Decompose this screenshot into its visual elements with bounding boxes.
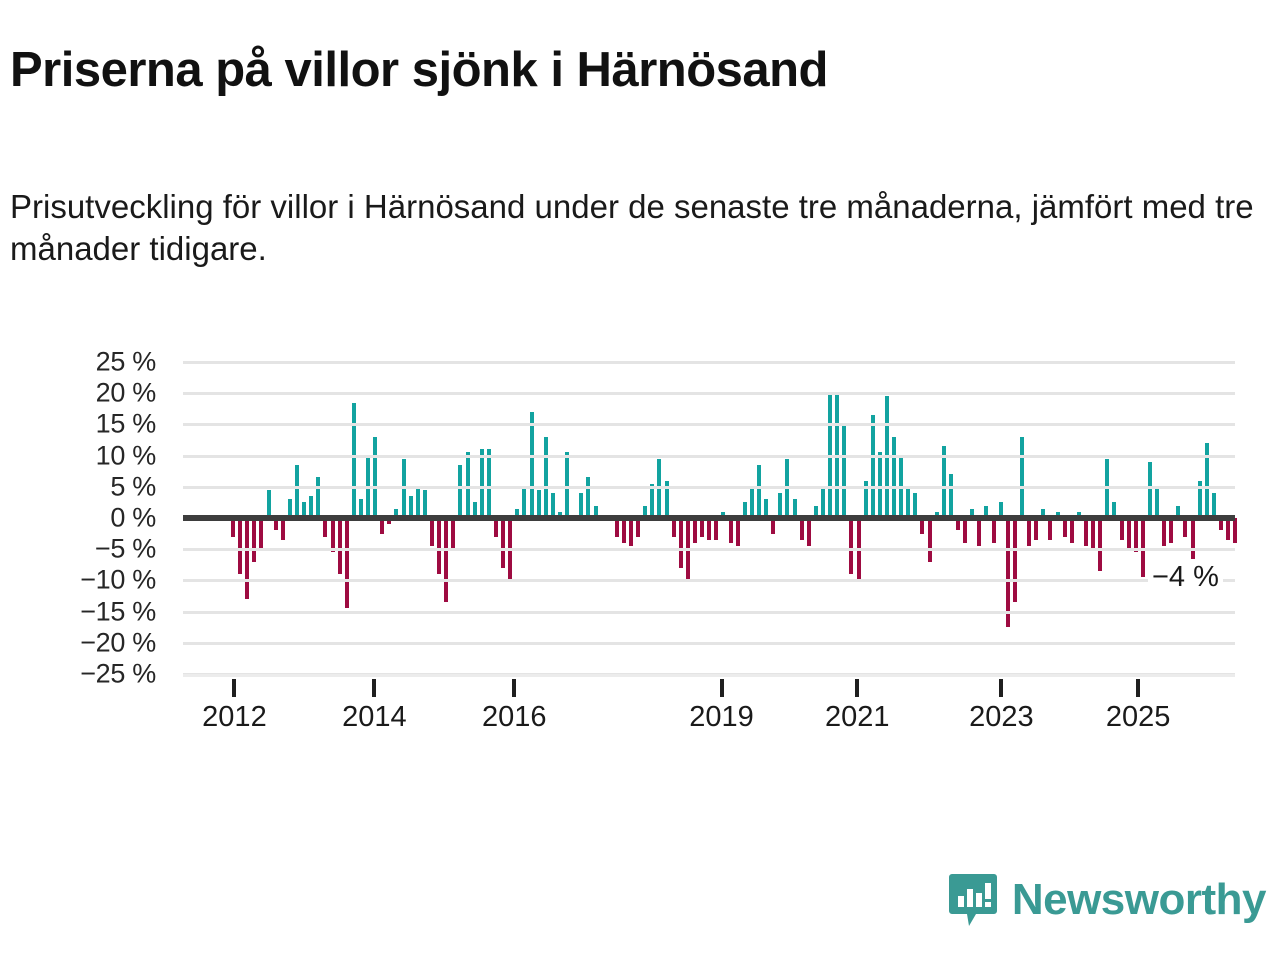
chart-bar xyxy=(650,484,654,518)
chart-bar xyxy=(1134,518,1138,552)
gridline xyxy=(183,548,1235,551)
gridline xyxy=(183,611,1235,614)
chart-bar xyxy=(444,518,448,602)
chart-bar xyxy=(928,518,932,562)
chart-bar xyxy=(267,490,271,518)
chart-bar xyxy=(281,518,285,540)
chart-bar xyxy=(1013,518,1017,602)
chart-bar xyxy=(1034,518,1038,540)
chart-bar xyxy=(992,518,996,543)
chart-bar xyxy=(693,518,697,543)
y-axis-tick-label: 15 % xyxy=(96,409,156,440)
chart-bar xyxy=(1191,518,1195,559)
chart-bar xyxy=(1048,518,1052,540)
page-subtitle: Prisutveckling för villor i Härnösand un… xyxy=(10,186,1260,269)
y-axis-tick-label: −10 % xyxy=(80,565,156,596)
chart-bar xyxy=(416,487,420,518)
gridline xyxy=(183,579,1235,582)
chart-bar xyxy=(480,449,484,518)
chart-bar xyxy=(714,518,718,540)
chart-bar xyxy=(1098,518,1102,571)
y-axis-tick-label: 0 % xyxy=(110,503,156,534)
x-axis-tick-label: 2012 xyxy=(202,701,267,734)
chart-bar xyxy=(736,518,740,546)
x-axis-tick-label: 2019 xyxy=(689,701,754,734)
x-axis-tick-label: 2025 xyxy=(1106,701,1171,734)
chart-bar xyxy=(259,518,263,549)
y-axis-tick-label: −15 % xyxy=(80,596,156,627)
chart-bar xyxy=(821,487,825,518)
chart-bar xyxy=(729,518,733,543)
chart-bar xyxy=(1091,518,1095,549)
chart-bar xyxy=(1148,462,1152,518)
chart-bar xyxy=(1027,518,1031,546)
x-axis-tick xyxy=(999,679,1003,697)
chart-bar xyxy=(458,465,462,518)
chart-bar xyxy=(1070,518,1074,543)
chart-bar xyxy=(522,487,526,518)
chart-bar xyxy=(238,518,242,574)
chart-bar xyxy=(977,518,981,546)
chart-bar xyxy=(252,518,256,562)
chart-bar xyxy=(530,412,534,518)
chart-bar xyxy=(1155,487,1159,518)
gridline xyxy=(183,361,1235,364)
x-axis-tick xyxy=(372,679,376,697)
y-axis-tick-label: −25 % xyxy=(80,659,156,690)
chart-bar xyxy=(487,449,491,518)
chart-bar xyxy=(963,518,967,543)
chart-bar xyxy=(807,518,811,546)
newsworthy-logo[interactable]: Newsworthy xyxy=(948,872,1266,928)
chart-bar xyxy=(338,518,342,574)
gridline xyxy=(183,642,1235,645)
chart-bar xyxy=(537,490,541,518)
chart-bar xyxy=(1084,518,1088,546)
chart-bar xyxy=(245,518,249,599)
chart-bar xyxy=(871,415,875,518)
bar-chart-speech-bubble-icon xyxy=(948,872,998,928)
chart-bar xyxy=(1020,437,1024,518)
x-axis-tick-label: 2023 xyxy=(969,701,1034,734)
gridline xyxy=(183,486,1235,489)
chart-bar xyxy=(800,518,804,540)
bar-chart: 25 %20 %15 %10 %5 %0 %−5 %−10 %−15 %−20 … xyxy=(0,352,1280,752)
y-axis-tick-label: −5 % xyxy=(95,534,156,565)
x-axis-tick-label: 2016 xyxy=(482,701,547,734)
brand-name: Newsworthy xyxy=(1012,878,1266,922)
y-axis-tick-label: 20 % xyxy=(96,378,156,409)
page-title: Priserna på villor sjönk i Härnösand xyxy=(10,42,828,98)
chart-bar xyxy=(629,518,633,546)
chart-bar xyxy=(373,437,377,518)
x-axis-tick xyxy=(232,679,236,697)
x-axis: 2012201420162019202120232025 xyxy=(183,674,1235,744)
chart-bar xyxy=(906,487,910,518)
x-axis-line xyxy=(183,674,1235,677)
chart-bar xyxy=(622,518,626,543)
chart-bar xyxy=(750,487,754,518)
y-axis-tick-label: 5 % xyxy=(110,471,156,502)
chart-bar xyxy=(949,474,953,518)
zero-line xyxy=(183,515,1235,521)
chart-bar xyxy=(679,518,683,568)
chart-bar xyxy=(345,518,349,608)
chart-bar xyxy=(295,465,299,518)
chart-bar xyxy=(1127,518,1131,549)
gridline xyxy=(183,423,1235,426)
x-axis-tick xyxy=(855,679,859,697)
plot-area xyxy=(183,362,1235,674)
last-value-annotation: −4 % xyxy=(1148,560,1223,595)
chart-bar xyxy=(1120,518,1124,540)
chart-bar xyxy=(316,477,320,518)
x-axis-tick-label: 2014 xyxy=(342,701,407,734)
x-axis-tick xyxy=(1136,679,1140,697)
chart-page: Priserna på villor sjönk i Härnösand Pri… xyxy=(0,0,1280,960)
chart-bar xyxy=(451,518,455,549)
chart-bar xyxy=(331,518,335,552)
chart-bar xyxy=(849,518,853,574)
y-axis-tick-label: 10 % xyxy=(96,440,156,471)
x-axis-tick xyxy=(512,679,516,697)
chart-bar xyxy=(707,518,711,540)
gridline xyxy=(183,392,1235,395)
chart-bar xyxy=(437,518,441,574)
gridline xyxy=(183,455,1235,458)
chart-bar xyxy=(892,437,896,518)
chart-bar xyxy=(1233,518,1237,543)
chart-bar xyxy=(544,437,548,518)
chart-bar xyxy=(430,518,434,546)
chart-bar xyxy=(1169,518,1173,543)
chart-bar xyxy=(757,465,761,518)
y-axis-labels: 25 %20 %15 %10 %5 %0 %−5 %−10 %−15 %−20 … xyxy=(0,352,170,682)
x-axis-tick xyxy=(720,679,724,697)
chart-bar xyxy=(586,477,590,518)
y-axis-tick-label: −20 % xyxy=(80,627,156,658)
x-axis-tick-label: 2021 xyxy=(825,701,890,734)
chart-bar xyxy=(1226,518,1230,540)
chart-bar xyxy=(352,403,356,518)
chart-bar xyxy=(1162,518,1166,546)
chart-bar xyxy=(423,490,427,518)
chart-bar xyxy=(842,424,846,518)
y-axis-tick-label: 25 % xyxy=(96,347,156,378)
chart-bar xyxy=(501,518,505,568)
